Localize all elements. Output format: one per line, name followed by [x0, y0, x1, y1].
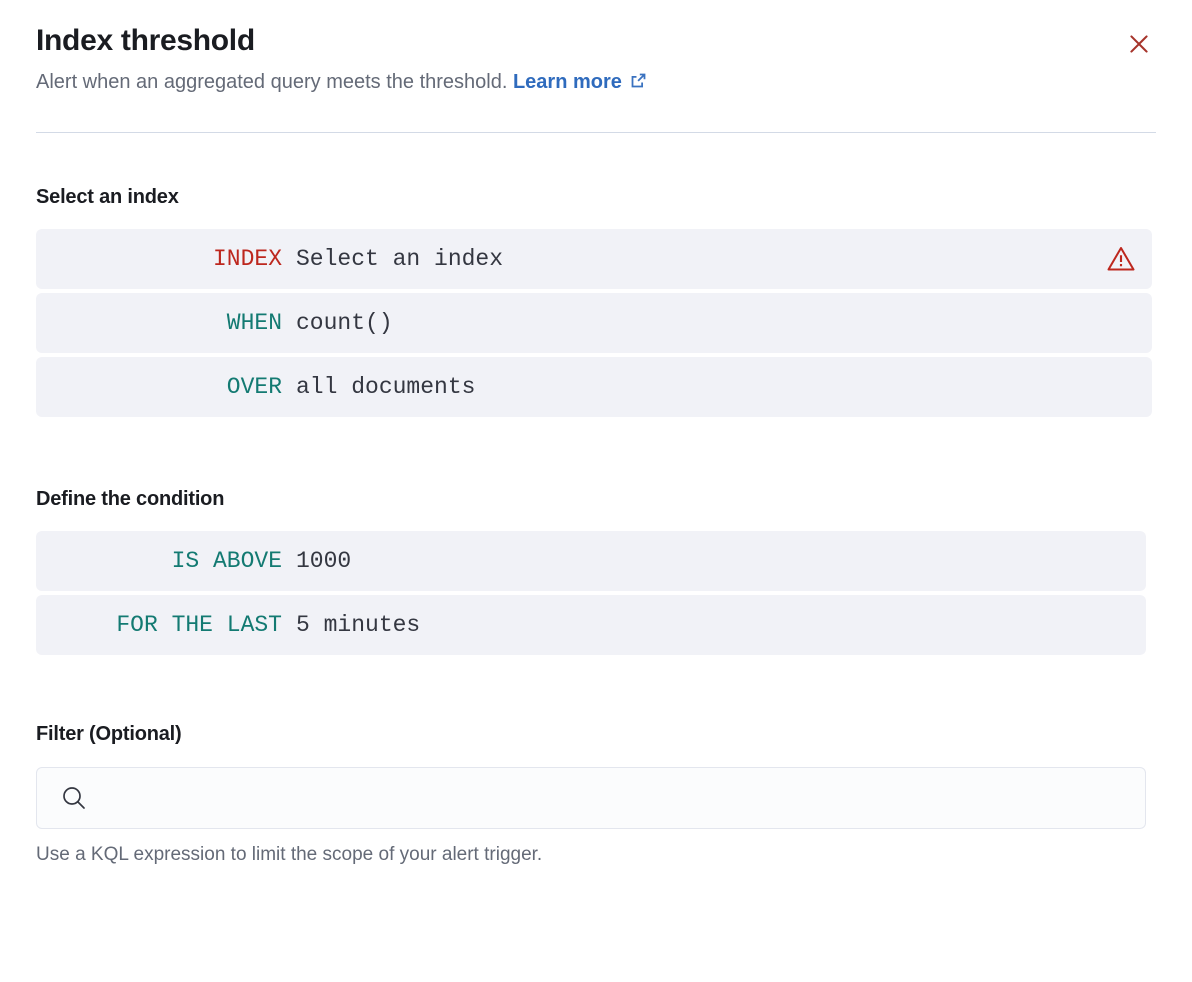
expression-row-when[interactable]: WHEN count(): [36, 293, 1152, 353]
expression-row-over[interactable]: OVER all documents: [36, 357, 1152, 417]
flyout-header: Index threshold Alert when an aggregated…: [0, 0, 1192, 98]
define-condition-heading: Define the condition: [36, 485, 1156, 513]
select-index-section: Select an index INDEX Select an index WH…: [0, 183, 1192, 417]
filter-section: Filter (Optional) Use a KQL expression t…: [0, 720, 1192, 868]
filter-help-text: Use a KQL expression to limit the scope …: [36, 841, 1156, 868]
expression-row-index[interactable]: INDEX Select an index: [36, 229, 1152, 289]
expression-keyword-when: WHEN: [36, 293, 282, 353]
condition-expression-list: IS ABOVE 1000 FOR THE LAST 5 minutes: [36, 531, 1156, 655]
expression-keyword-over: OVER: [36, 357, 282, 417]
expression-value-over: all documents: [296, 357, 475, 417]
expression-keyword-index: INDEX: [36, 229, 282, 289]
expression-keyword-is-above: IS ABOVE: [36, 531, 282, 591]
flyout-subtitle-text: Alert when an aggregated query meets the…: [36, 71, 507, 93]
expression-row-is-above[interactable]: IS ABOVE 1000: [36, 531, 1146, 591]
index-threshold-flyout: Index threshold Alert when an aggregated…: [0, 0, 1192, 982]
filter-heading: Filter (Optional): [36, 720, 1156, 748]
expression-keyword-for-the-last: FOR THE LAST: [36, 595, 282, 655]
expression-value-when: count(): [296, 293, 393, 353]
select-index-heading: Select an index: [36, 183, 1156, 211]
close-icon: [1126, 31, 1152, 60]
external-link-icon: [629, 70, 648, 98]
learn-more-label: Learn more: [513, 71, 622, 93]
expression-value-for-the-last: 5 minutes: [296, 595, 420, 655]
expression-value-is-above: 1000: [296, 531, 351, 591]
index-expression-list: INDEX Select an index WHEN count() OVER …: [36, 229, 1156, 417]
search-input[interactable]: [37, 768, 1145, 828]
flyout-subtitle: Alert when an aggregated query meets the…: [36, 68, 1156, 98]
close-button[interactable]: [1122, 28, 1156, 62]
search-icon: [59, 783, 89, 813]
header-divider: [36, 132, 1156, 133]
filter-search-box[interactable]: [36, 767, 1146, 829]
page-title: Index threshold: [36, 22, 1156, 60]
define-condition-section: Define the condition IS ABOVE 1000 FOR T…: [0, 485, 1192, 655]
learn-more-link[interactable]: Learn more: [513, 71, 622, 93]
expression-value-index: Select an index: [296, 229, 503, 289]
expression-row-for-the-last[interactable]: FOR THE LAST 5 minutes: [36, 595, 1146, 655]
warning-triangle-icon: [1106, 244, 1136, 274]
